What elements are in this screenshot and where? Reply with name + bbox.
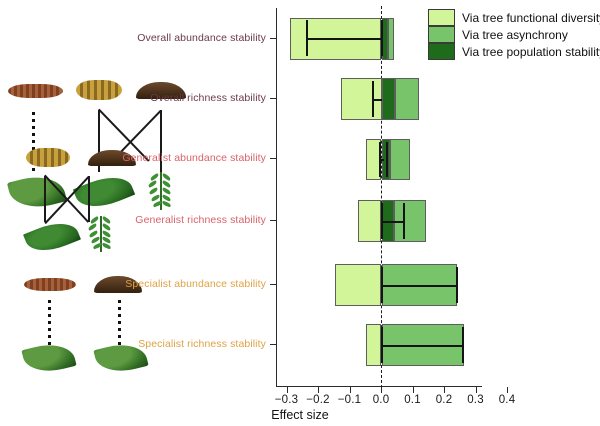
error-bar-cap-upper xyxy=(462,327,464,363)
x-tick xyxy=(413,387,414,393)
y-label-generalist-abundance-stability: Generalist abundance stability xyxy=(60,152,266,164)
y-label-overall-abundance-stability: Overall abundance stability xyxy=(60,32,266,44)
y-label-specialist-richness-stability: Specialist richness stability xyxy=(60,338,266,350)
error-bar-cap-lower xyxy=(381,327,383,363)
y-label-overall-richness-stability: Overall richness stability xyxy=(60,92,266,104)
x-tick-label: 0.4 xyxy=(487,394,527,406)
y-tick xyxy=(270,220,277,221)
bar-segment-functional-diversity xyxy=(358,200,382,242)
y-tick xyxy=(270,344,277,345)
error-bar-line xyxy=(381,221,403,223)
y-tick xyxy=(270,284,277,285)
figure-canvas xyxy=(0,0,600,426)
legend-label-asynchrony: Via tree asynchrony xyxy=(462,28,568,42)
legend-label-population-stability: Via tree population stability xyxy=(462,45,600,59)
legend-label-functional-diversity: Via tree functional diversity xyxy=(462,11,600,25)
link-vertical-3 xyxy=(44,176,46,222)
x-tick xyxy=(507,387,508,393)
error-bar-cap-lower xyxy=(372,81,374,117)
legend-swatch-functional-diversity xyxy=(428,9,455,26)
y-axis-line xyxy=(276,8,277,386)
error-bar-cap-upper xyxy=(386,142,388,177)
x-tick xyxy=(350,387,351,393)
y-tick xyxy=(270,38,277,39)
legend-swatch-population-stability xyxy=(428,43,455,60)
x-axis-line xyxy=(276,386,482,387)
bar-segment-functional-diversity xyxy=(366,324,381,366)
y-label-generalist-richness-stability: Generalist richness stability xyxy=(60,214,266,226)
error-bar-cap-lower xyxy=(379,142,381,177)
bar-segment-asynchrony xyxy=(388,18,394,60)
red-striped-caterpillar-icon xyxy=(8,84,63,98)
x-tick xyxy=(381,387,382,393)
x-tick xyxy=(444,387,445,393)
error-bar-cap-upper xyxy=(403,203,405,239)
x-tick xyxy=(287,387,288,393)
bar-segment-asynchrony xyxy=(390,139,410,180)
error-bar-cap-lower xyxy=(381,203,383,239)
error-bar-line xyxy=(381,345,463,347)
error-bar-line xyxy=(381,285,458,287)
bar-segment-asynchrony xyxy=(395,78,419,120)
x-axis-title: Effect size xyxy=(0,408,600,422)
x-tick xyxy=(318,387,319,393)
error-bar-cap-upper xyxy=(456,267,458,303)
error-bar-cap-lower xyxy=(306,20,308,56)
y-label-specialist-abundance-stability: Specialist abundance stability xyxy=(60,278,266,290)
y-tick xyxy=(270,98,277,99)
error-bar-line xyxy=(306,38,382,40)
bar-segment-population-stability xyxy=(382,78,395,120)
bar-segment-functional-diversity xyxy=(335,264,382,306)
error-bar-cap-upper xyxy=(381,20,383,56)
error-bar-cap-lower xyxy=(381,267,383,303)
legend-swatch-asynchrony xyxy=(428,26,455,43)
fern-leaf-icon xyxy=(138,172,184,212)
x-tick xyxy=(476,387,477,393)
y-tick xyxy=(270,158,277,159)
